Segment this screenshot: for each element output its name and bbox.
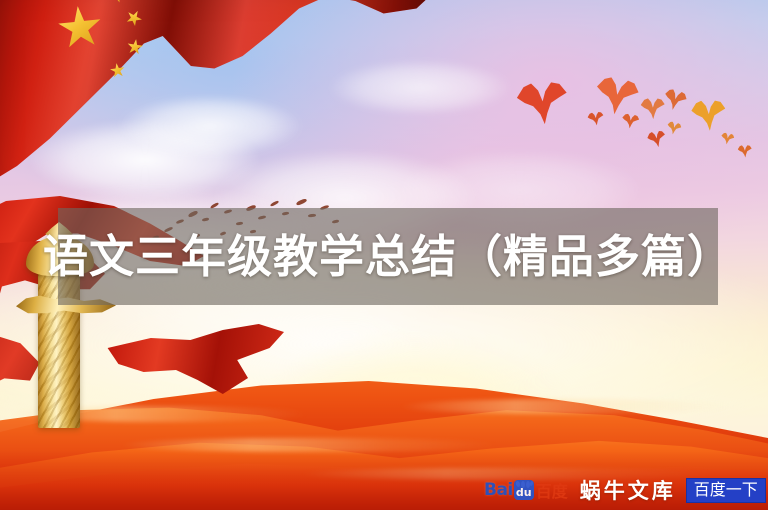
chinese-flag-icon — [0, 0, 440, 216]
flock-speck — [296, 198, 308, 206]
flag-edge-light — [0, 0, 440, 216]
baidu-paw-label: du — [516, 487, 532, 498]
baidu-latin-text: Bai — [484, 480, 513, 500]
baidu-chinese-text: 百度 — [536, 478, 568, 502]
paw-pad — [529, 481, 533, 487]
flag-body — [0, 0, 440, 216]
page-title: 语文三年级教学总结（精品多篇） — [43, 234, 733, 279]
wave-highlight — [400, 399, 730, 414]
flock-speck — [270, 200, 279, 207]
baidu-search-button[interactable]: 百度一下 — [686, 478, 766, 503]
watermark-bar: Bai du 百度 蜗牛文库 百度一下 — [484, 476, 766, 504]
site-name-watermark: 蜗牛文库 — [580, 475, 676, 505]
paw-pad — [521, 481, 525, 488]
baidu-paw-icon: du — [514, 480, 534, 500]
baidu-logo: Bai du 百度 — [484, 479, 568, 501]
title-band: 语文三年级教学总结（精品多篇） — [58, 208, 718, 305]
poster-canvas: 语文三年级教学总结（精品多篇） Bai du 百度 蜗牛文库 百度一下 — [0, 0, 768, 510]
